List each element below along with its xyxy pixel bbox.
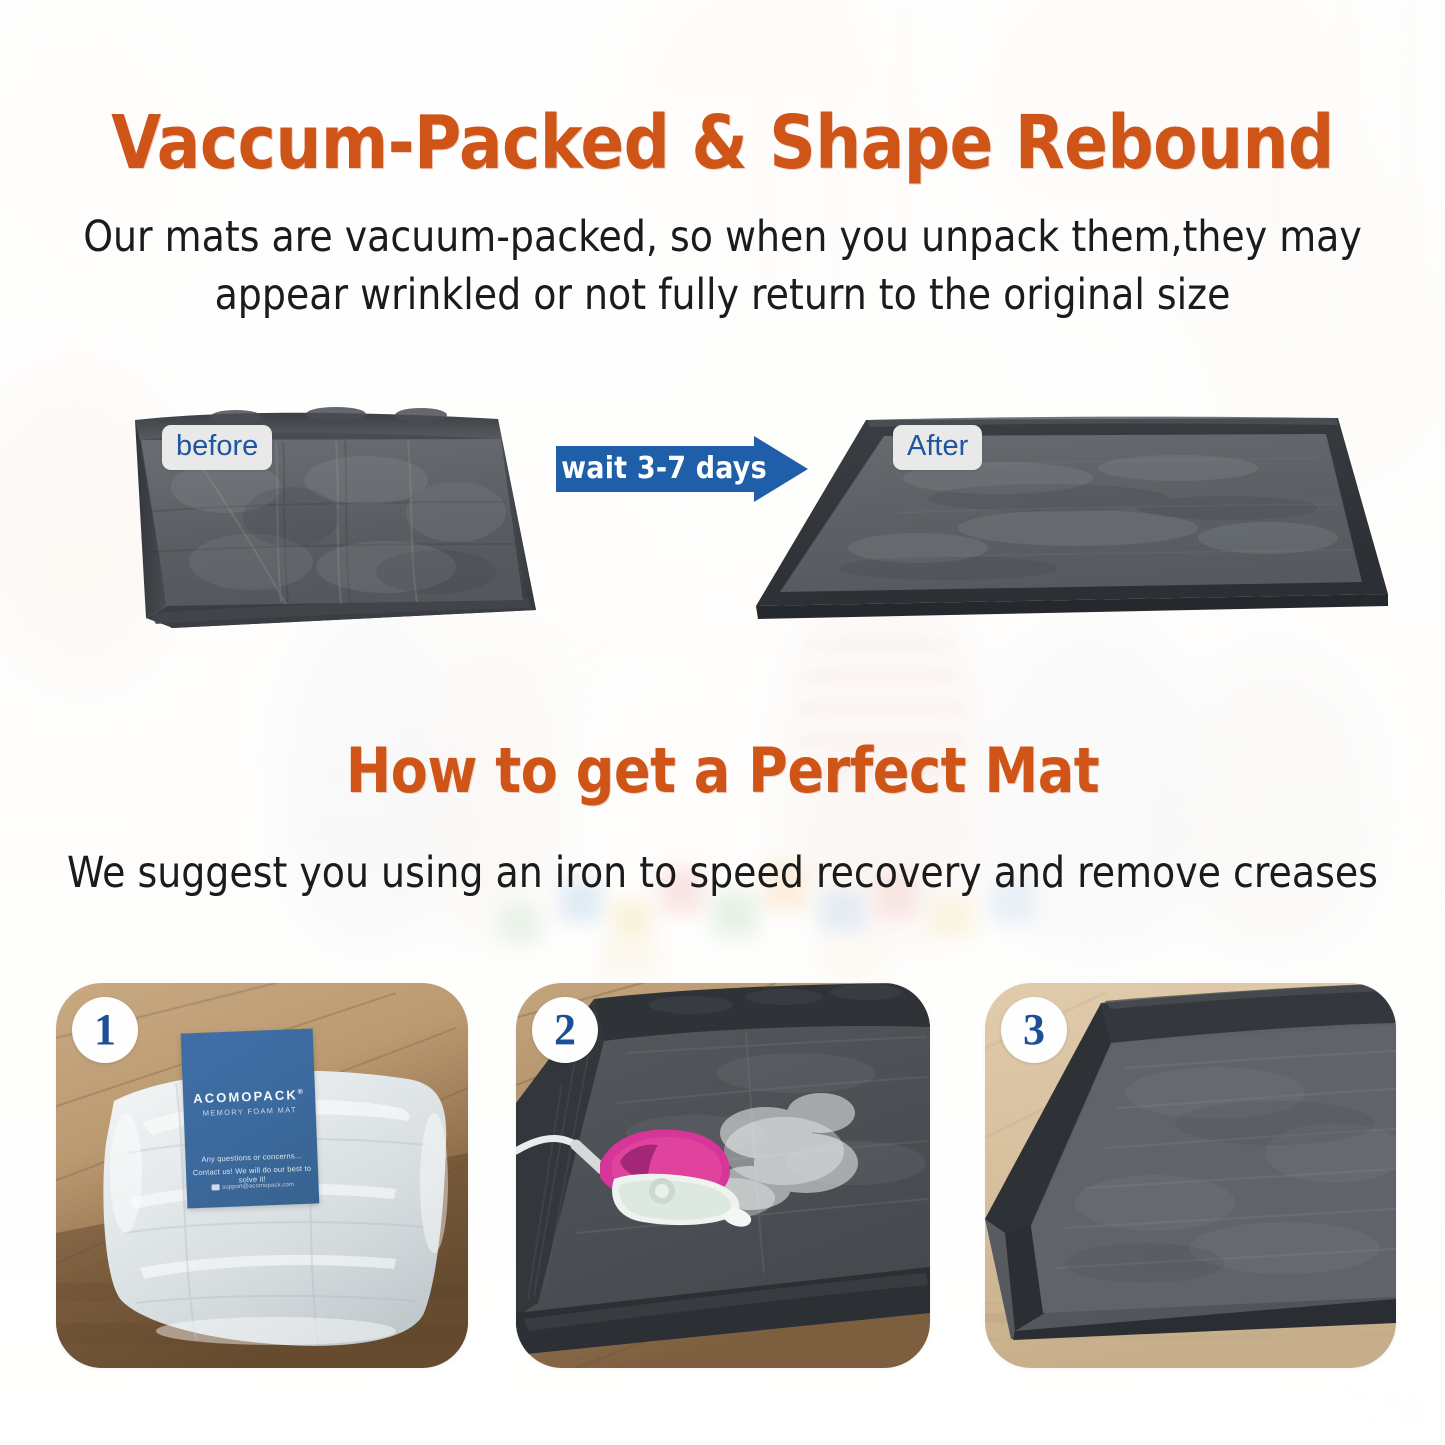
package-question-line: Any questions or concerns... xyxy=(185,1150,317,1164)
step-1-panel: ACOMOPACK® MEMORY FOAM MAT Any questions… xyxy=(56,983,468,1368)
infographic-page: Vaccum-Packed & Shape Rebound Our mats a… xyxy=(0,0,1445,1445)
step-3-number-badge: 3 xyxy=(1001,997,1067,1063)
arrow-label: wait 3-7 days xyxy=(556,436,762,502)
step-3-number: 3 xyxy=(1023,1008,1045,1052)
step-1-number: 1 xyxy=(94,1008,116,1052)
step-2-number-badge: 2 xyxy=(532,997,598,1063)
step-1-number-badge: 1 xyxy=(72,997,138,1063)
watermark: 剑锋 xyxy=(1333,1371,1433,1437)
mat-after-image xyxy=(748,398,1408,638)
envelope-icon xyxy=(211,1184,219,1190)
step-2-panel: 2 xyxy=(516,983,930,1368)
package-label: ACOMOPACK® MEMORY FOAM MAT Any questions… xyxy=(181,1029,320,1209)
step-3-panel: 3 xyxy=(985,983,1396,1368)
package-brand: ACOMOPACK® xyxy=(183,1086,315,1106)
section-1-subtitle-line-1: Our mats are vacuum-packed, so when you … xyxy=(14,208,1430,266)
mat-before-image xyxy=(36,392,636,652)
section-1-subtitle-line-2: appear wrinkled or not fully return to t… xyxy=(14,266,1430,324)
step-2-number: 2 xyxy=(554,1008,576,1052)
section-1-subtitle: Our mats are vacuum-packed, so when you … xyxy=(14,208,1430,324)
section-2-title: How to get a Perfect Mat xyxy=(22,738,1424,804)
before-badge: before xyxy=(162,425,272,470)
section-1-title: Vaccum-Packed & Shape Rebound xyxy=(22,104,1424,182)
after-badge: After xyxy=(893,425,982,470)
package-product-name: MEMORY FOAM MAT xyxy=(184,1104,316,1118)
section-2-subtitle: We suggest you using an iron to speed re… xyxy=(14,845,1430,901)
